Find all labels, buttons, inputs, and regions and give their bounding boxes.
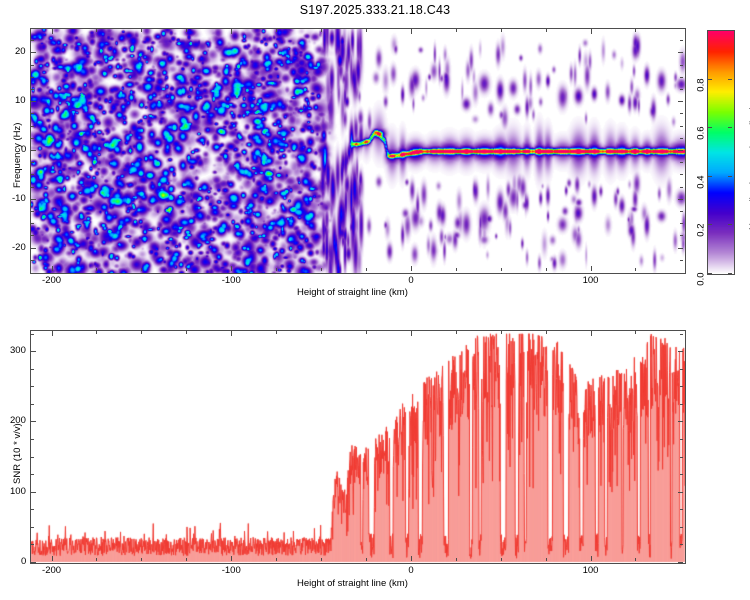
x-axis-tick-minor: [456, 558, 457, 561]
y-axis-tick-minor: [680, 113, 683, 114]
x-axis-tick-minor: [501, 268, 502, 271]
x-axis-tick-minor: [321, 29, 322, 32]
y-axis-tick-label: 100: [10, 486, 26, 497]
y-axis-tick-major: [678, 492, 683, 493]
y-axis-tick-minor: [680, 211, 683, 212]
colorbar-tick: [708, 79, 712, 80]
y-axis-tick-minor: [31, 89, 34, 90]
snr-plot-area: [30, 330, 686, 564]
spectrogram-x-axis-label: Height of straight line (km): [297, 287, 408, 298]
y-axis-tick-minor: [680, 235, 683, 236]
snr-y-axis-label: SNR (10 * v/v): [12, 423, 23, 484]
y-axis-tick-major: [678, 150, 683, 151]
y-axis-tick-major: [678, 52, 683, 53]
x-axis-tick-major: [52, 556, 53, 561]
y-axis-tick-minor: [680, 187, 683, 188]
x-axis-tick-minor: [276, 29, 277, 32]
x-axis-tick-minor: [366, 29, 367, 32]
x-axis-tick-label: -200: [42, 565, 61, 576]
y-axis-tick-minor: [31, 260, 34, 261]
spectrogram-plot-area: [30, 28, 686, 274]
x-axis-tick-minor: [366, 331, 367, 334]
colorbar-tick-label: 0.4: [696, 175, 707, 188]
y-axis-tick-minor: [31, 211, 34, 212]
y-axis-tick-minor: [680, 138, 683, 139]
y-axis-tick-minor: [680, 509, 683, 510]
y-axis-tick-major: [31, 248, 36, 249]
y-axis-tick-major: [31, 199, 36, 200]
colorbar-tick: [728, 273, 732, 274]
y-axis-tick-minor: [680, 89, 683, 90]
y-axis-tick-major: [31, 421, 36, 422]
y-axis-tick-minor: [31, 457, 34, 458]
x-axis-tick-label: -100: [222, 565, 241, 576]
x-axis-tick-minor: [501, 558, 502, 561]
y-axis-tick-minor: [31, 544, 34, 545]
figure-root: S197.2025.333.21.18.C43 Frequency (Hz) H…: [0, 0, 750, 600]
x-axis-tick-minor: [546, 29, 547, 32]
x-axis-tick-label: -100: [222, 275, 241, 286]
y-axis-tick-major: [678, 101, 683, 102]
x-axis-tick-minor: [186, 558, 187, 561]
y-axis-tick-label: -20: [12, 242, 26, 253]
y-axis-tick-minor: [680, 334, 683, 335]
x-axis-tick-major: [411, 556, 412, 561]
y-axis-tick-minor: [31, 162, 34, 163]
x-axis-tick-minor: [186, 29, 187, 32]
y-axis-tick-minor: [31, 527, 34, 528]
y-axis-tick-minor: [31, 386, 34, 387]
x-axis-tick-minor: [366, 558, 367, 561]
x-axis-tick-label: 0: [408, 275, 413, 286]
x-axis-tick-minor: [321, 331, 322, 334]
y-axis-tick-major: [31, 351, 36, 352]
y-axis-tick-minor: [31, 40, 34, 41]
y-axis-tick-minor: [680, 527, 683, 528]
y-axis-tick-minor: [680, 162, 683, 163]
x-axis-tick-minor: [456, 331, 457, 334]
colorbar-tick: [728, 176, 732, 177]
x-axis-tick-minor: [546, 558, 547, 561]
y-axis-tick-minor: [31, 65, 34, 66]
y-axis-tick-label: 20: [15, 46, 26, 57]
y-axis-tick-minor: [680, 40, 683, 41]
y-axis-tick-minor: [31, 187, 34, 188]
y-axis-tick-minor: [680, 544, 683, 545]
x-axis-tick-minor: [366, 268, 367, 271]
y-axis-tick-minor: [31, 138, 34, 139]
y-axis-tick-major: [678, 421, 683, 422]
colorbar-tick-label: 0.8: [696, 78, 707, 91]
snr-trace: [31, 331, 685, 563]
x-axis-tick-minor: [141, 558, 142, 561]
y-axis-tick-label: -10: [12, 193, 26, 204]
x-axis-tick-minor: [456, 29, 457, 32]
y-axis-tick-label: 10: [15, 95, 26, 106]
y-axis-tick-major: [31, 562, 36, 563]
y-axis-tick-minor: [31, 439, 34, 440]
y-axis-tick-minor: [31, 174, 34, 175]
x-axis-tick-minor: [96, 268, 97, 271]
y-axis-tick-minor: [680, 369, 683, 370]
y-axis-tick-minor: [31, 235, 34, 236]
x-axis-tick-major: [231, 29, 232, 34]
x-axis-tick-major: [411, 266, 412, 271]
y-axis-tick-minor: [680, 386, 683, 387]
x-axis-tick-minor: [276, 268, 277, 271]
y-axis-tick-minor: [31, 126, 34, 127]
y-axis-tick-major: [31, 492, 36, 493]
y-axis-tick-minor: [31, 113, 34, 114]
x-axis-tick-minor: [141, 331, 142, 334]
y-axis-tick-major: [678, 351, 683, 352]
y-axis-tick-label: 200: [10, 415, 26, 426]
x-axis-tick-major: [52, 331, 53, 336]
x-axis-tick-major: [591, 266, 592, 271]
x-axis-tick-label: 0: [408, 565, 413, 576]
y-axis-tick-minor: [31, 509, 34, 510]
y-axis-tick-minor: [31, 334, 34, 335]
x-axis-tick-minor: [321, 558, 322, 561]
y-axis-tick-major: [678, 248, 683, 249]
y-axis-tick-minor: [680, 474, 683, 475]
y-axis-tick-label: 0: [21, 556, 26, 567]
y-axis-tick-minor: [680, 260, 683, 261]
y-axis-tick-minor: [31, 404, 34, 405]
x-axis-tick-major: [411, 331, 412, 336]
colorbar-tick: [708, 127, 712, 128]
y-axis-tick-major: [31, 101, 36, 102]
x-axis-tick-minor: [141, 268, 142, 271]
y-axis-tick-minor: [680, 77, 683, 78]
colorbar-tick: [728, 127, 732, 128]
spectrogram-image: [31, 29, 685, 273]
x-axis-tick-minor: [635, 29, 636, 32]
x-axis-tick-minor: [96, 29, 97, 32]
snr-x-axis-label: Height of straight line (km): [297, 578, 408, 589]
y-axis-tick-minor: [31, 474, 34, 475]
x-axis-tick-label: -200: [42, 275, 61, 286]
y-axis-tick-major: [31, 150, 36, 151]
colorbar-tick: [728, 224, 732, 225]
x-axis-tick-major: [52, 29, 53, 34]
colorbar-tick-label: 0.6: [696, 127, 707, 140]
figure-title: S197.2025.333.21.18.C43: [0, 3, 750, 17]
x-axis-tick-major: [591, 29, 592, 34]
x-axis-tick-major: [591, 556, 592, 561]
x-axis-tick-major: [231, 266, 232, 271]
y-axis-tick-minor: [31, 77, 34, 78]
x-axis-tick-minor: [635, 268, 636, 271]
y-axis-tick-major: [678, 562, 683, 563]
y-axis-tick-major: [678, 199, 683, 200]
x-axis-tick-label: 100: [583, 275, 599, 286]
x-axis-tick-major: [52, 266, 53, 271]
y-axis-tick-label: 0: [21, 144, 26, 155]
x-axis-tick-major: [411, 29, 412, 34]
y-axis-tick-minor: [680, 126, 683, 127]
y-axis-tick-minor: [31, 223, 34, 224]
x-axis-tick-major: [231, 556, 232, 561]
y-axis-tick-minor: [31, 369, 34, 370]
colorbar-tick-label: 0.2: [696, 224, 707, 237]
y-axis-tick-minor: [680, 223, 683, 224]
x-axis-tick-minor: [635, 331, 636, 334]
y-axis-tick-minor: [680, 404, 683, 405]
colorbar-tick: [708, 224, 712, 225]
y-axis-tick-label: 300: [10, 345, 26, 356]
x-axis-tick-major: [591, 331, 592, 336]
x-axis-tick-minor: [501, 29, 502, 32]
spectrogram-y-axis-label: Frequency (Hz): [12, 123, 23, 188]
colorbar-tick-label: 0.0: [696, 273, 707, 286]
x-axis-tick-minor: [546, 268, 547, 271]
x-axis-tick-minor: [141, 29, 142, 32]
x-axis-tick-major: [231, 331, 232, 336]
x-axis-tick-minor: [635, 558, 636, 561]
x-axis-tick-label: 100: [583, 565, 599, 576]
colorbar: [707, 30, 735, 275]
colorbar-tick: [708, 176, 712, 177]
x-axis-tick-minor: [186, 331, 187, 334]
colorbar-tick: [708, 273, 712, 274]
y-axis-tick-minor: [680, 65, 683, 66]
colorbar-gradient: [708, 31, 734, 274]
y-axis-tick-major: [31, 52, 36, 53]
x-axis-tick-minor: [321, 268, 322, 271]
x-axis-tick-minor: [456, 268, 457, 271]
colorbar-tick: [728, 79, 732, 80]
x-axis-tick-minor: [276, 331, 277, 334]
x-axis-tick-minor: [96, 331, 97, 334]
x-axis-tick-minor: [546, 331, 547, 334]
y-axis-tick-minor: [680, 174, 683, 175]
x-axis-tick-minor: [501, 331, 502, 334]
x-axis-tick-minor: [276, 558, 277, 561]
x-axis-tick-minor: [186, 268, 187, 271]
y-axis-tick-minor: [680, 439, 683, 440]
y-axis-tick-minor: [680, 457, 683, 458]
x-axis-tick-minor: [96, 558, 97, 561]
